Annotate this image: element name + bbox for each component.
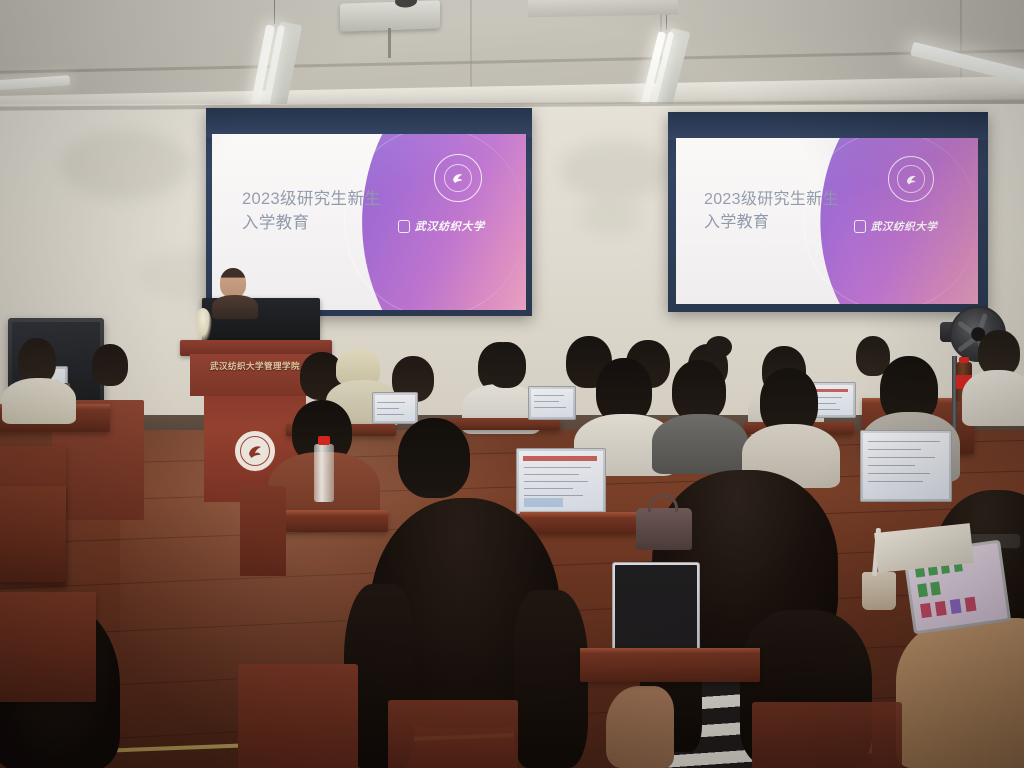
university-seal-emblem: [234, 430, 276, 472]
wordmark-text: 武汉纺织大学: [415, 218, 485, 234]
crane-bird-icon: [450, 170, 465, 185]
ipad-tablet[interactable]: [612, 562, 700, 658]
slide-title-text: 2023级研究生新生 入学教育: [242, 188, 381, 236]
foreground-desk: [580, 648, 760, 682]
hair-strand: [514, 590, 588, 768]
laptop-back-row[interactable]: [372, 392, 418, 424]
screen-text-line: [534, 407, 567, 408]
handbag: [636, 508, 692, 550]
screen-valance: [206, 108, 532, 137]
tablet-screen: [615, 565, 697, 655]
tablet-app-swatch: [920, 603, 932, 618]
right-projection-screen[interactable]: 2023级研究生新生 入学教育 武汉纺织大学: [668, 112, 988, 312]
screen-text-line: [377, 408, 399, 409]
tablet-app-swatch: [950, 599, 962, 614]
student-shoulders: [2, 378, 76, 424]
foreground-bench-back: [238, 664, 358, 768]
student-head: [398, 418, 470, 498]
school-emblem-logo: [888, 156, 934, 202]
water-bottle[interactable]: [314, 444, 334, 502]
screen-text-line: [524, 467, 591, 468]
foreground-desk-left: [0, 486, 66, 582]
laptop-lid: [528, 386, 576, 420]
school-emblem-logo: [434, 154, 482, 202]
school-emblem-inner: [897, 165, 924, 192]
bench-back: [240, 486, 286, 576]
student-shoulders: [962, 370, 1024, 426]
bottle-cap: [959, 357, 969, 363]
school-emblem-inner: [444, 164, 473, 193]
screen-text-line: [524, 495, 583, 496]
ceiling-vent: [528, 0, 678, 17]
student-sleeve: [896, 618, 1024, 768]
slide-title-text: 2023级研究生新生 入学教育: [704, 188, 839, 234]
tablet-app-swatch: [930, 582, 940, 595]
screen-text-line: [868, 465, 915, 466]
student-arm: [606, 686, 674, 768]
pendant-rod: [274, 0, 275, 24]
wall-stain: [580, 200, 640, 234]
wordmark-text: 武汉纺织大学: [871, 219, 938, 234]
presenter-head: [220, 268, 246, 298]
screen-text-line: [524, 481, 588, 482]
ceiling-panel-line: [470, 0, 472, 92]
tablet-app-swatch: [918, 584, 928, 597]
bottle-cap: [318, 436, 330, 445]
foreground-bench-back: [752, 702, 902, 768]
student-head: [486, 342, 526, 388]
flower-arrangement: [194, 308, 212, 344]
student-head: [92, 344, 128, 386]
screen-text-line: [534, 395, 564, 396]
university-wordmark: 武汉纺织大学: [854, 218, 948, 234]
podium-label: 武汉纺织大学管理学院: [192, 360, 318, 372]
foreground-desk-left: [0, 592, 96, 702]
screen-text-line: [868, 457, 935, 458]
screen-valance: [668, 112, 988, 140]
screen-text-line: [868, 449, 921, 450]
wordmark-badge-icon: [854, 220, 866, 233]
university-seal-inner: [240, 436, 270, 466]
student-shoulders: [652, 414, 748, 474]
wordmark-badge-icon: [398, 220, 410, 233]
laptop-screen: [375, 395, 415, 421]
screen-text-line: [524, 474, 579, 475]
presenter-shoulders: [212, 295, 258, 319]
slide-right: 2023级研究生新生 入学教育 武汉纺织大学: [676, 138, 978, 304]
screen-text-line: [377, 402, 405, 403]
seal-crane-icon: [245, 441, 265, 461]
laptop-lid: [372, 392, 418, 424]
screen-text-line: [868, 441, 940, 442]
university-wordmark: 武汉纺织大学: [398, 218, 494, 234]
lecture-hall-photo: 2023级研究生新生 入学教育 武汉纺织大学 2023级研究生新生 入学教育: [0, 0, 1024, 768]
projector-mount: [388, 28, 391, 58]
screen-text-line: [524, 488, 573, 489]
crane-bird-icon: [904, 172, 919, 187]
presenter: [214, 268, 260, 314]
wall-stain: [60, 130, 190, 200]
laptop-screen: [531, 389, 573, 417]
screen-text-line: [534, 401, 559, 402]
projector-lens-icon: [395, 0, 417, 8]
student-head-bun: [706, 336, 732, 358]
student-head: [672, 360, 726, 422]
screen-text-line: [377, 414, 403, 415]
desk-edge: [580, 648, 760, 653]
tablet-app-swatch: [935, 601, 947, 616]
tablet-app-swatch: [964, 597, 976, 612]
foreground-bench-back: [388, 700, 518, 768]
laptop-back-row[interactable]: [528, 386, 576, 420]
screen-accent-bar: [523, 456, 597, 461]
wall-stain: [560, 140, 670, 200]
